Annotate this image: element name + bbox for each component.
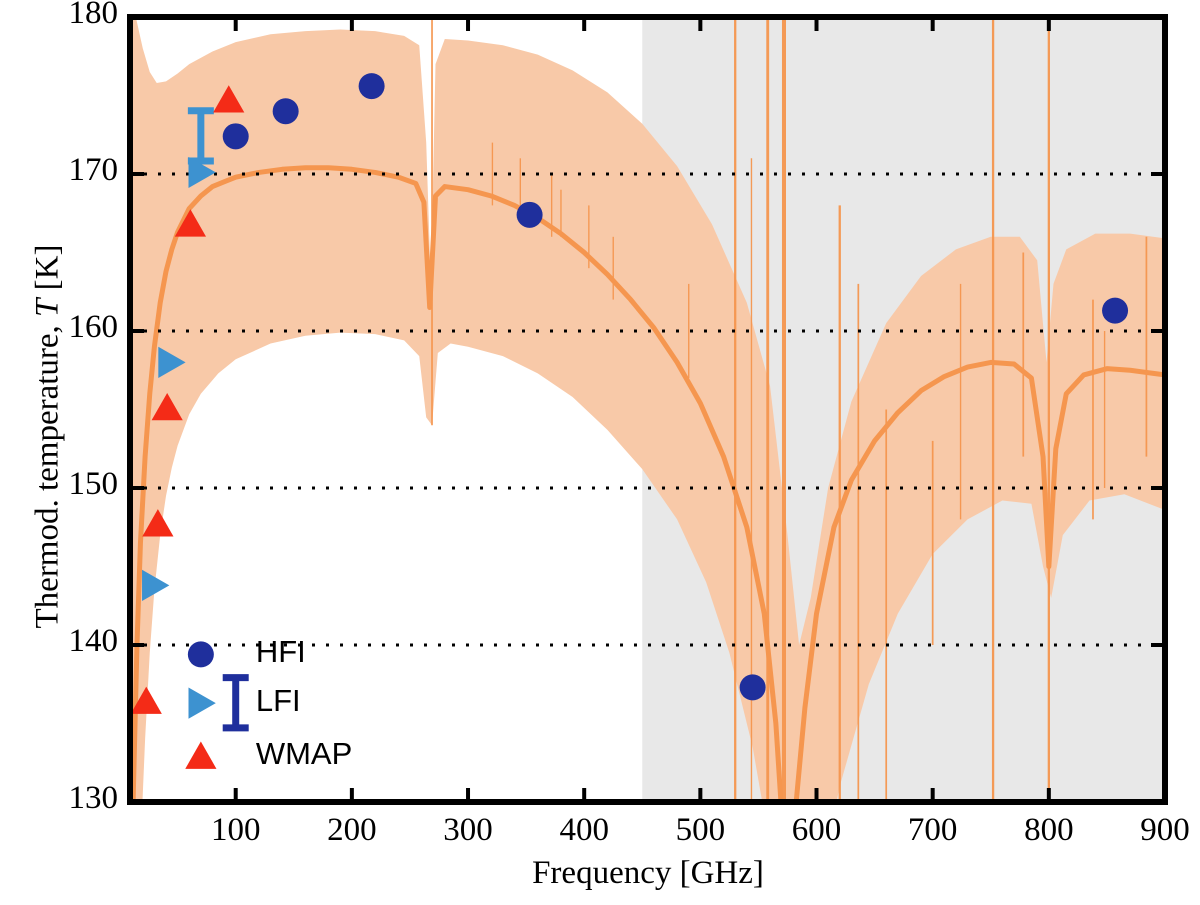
marker-circle xyxy=(740,674,766,700)
x-tick-label: 900 xyxy=(1105,812,1200,849)
y-tick-label: 130 xyxy=(8,780,118,817)
x-tick-label: 300 xyxy=(408,812,528,849)
x-tick-label: 200 xyxy=(292,812,412,849)
legend-label-wmap: WMAP xyxy=(256,736,352,772)
x-axis-label: Frequency [GHz] xyxy=(130,855,1166,892)
figure-container: Thermod. temperature, T [K] Frequency [G… xyxy=(0,0,1200,905)
x-tick-label: 400 xyxy=(524,812,644,849)
x-tick-label: 800 xyxy=(989,812,1109,849)
x-tick-label: 100 xyxy=(176,812,296,849)
y-axis-label-post: [K] xyxy=(30,245,66,299)
marker-circle xyxy=(223,123,249,149)
x-tick-label: 600 xyxy=(757,812,877,849)
marker-circle xyxy=(517,202,543,228)
x-tick-label: 700 xyxy=(873,812,993,849)
legend-label-hfi: HFI xyxy=(256,634,306,670)
y-tick-label: 140 xyxy=(8,623,118,660)
x-tick-label: 500 xyxy=(640,812,760,849)
marker-circle xyxy=(1102,298,1128,324)
marker-circle xyxy=(273,98,299,124)
legend-label-lfi: LFI xyxy=(256,683,301,719)
y-tick-label: 170 xyxy=(8,152,118,189)
y-tick-label: 150 xyxy=(8,466,118,503)
plot-canvas xyxy=(0,0,1200,905)
y-tick-label: 180 xyxy=(8,0,118,32)
marker-circle xyxy=(188,641,214,667)
y-tick-label: 160 xyxy=(8,309,118,346)
marker-circle xyxy=(359,73,385,99)
